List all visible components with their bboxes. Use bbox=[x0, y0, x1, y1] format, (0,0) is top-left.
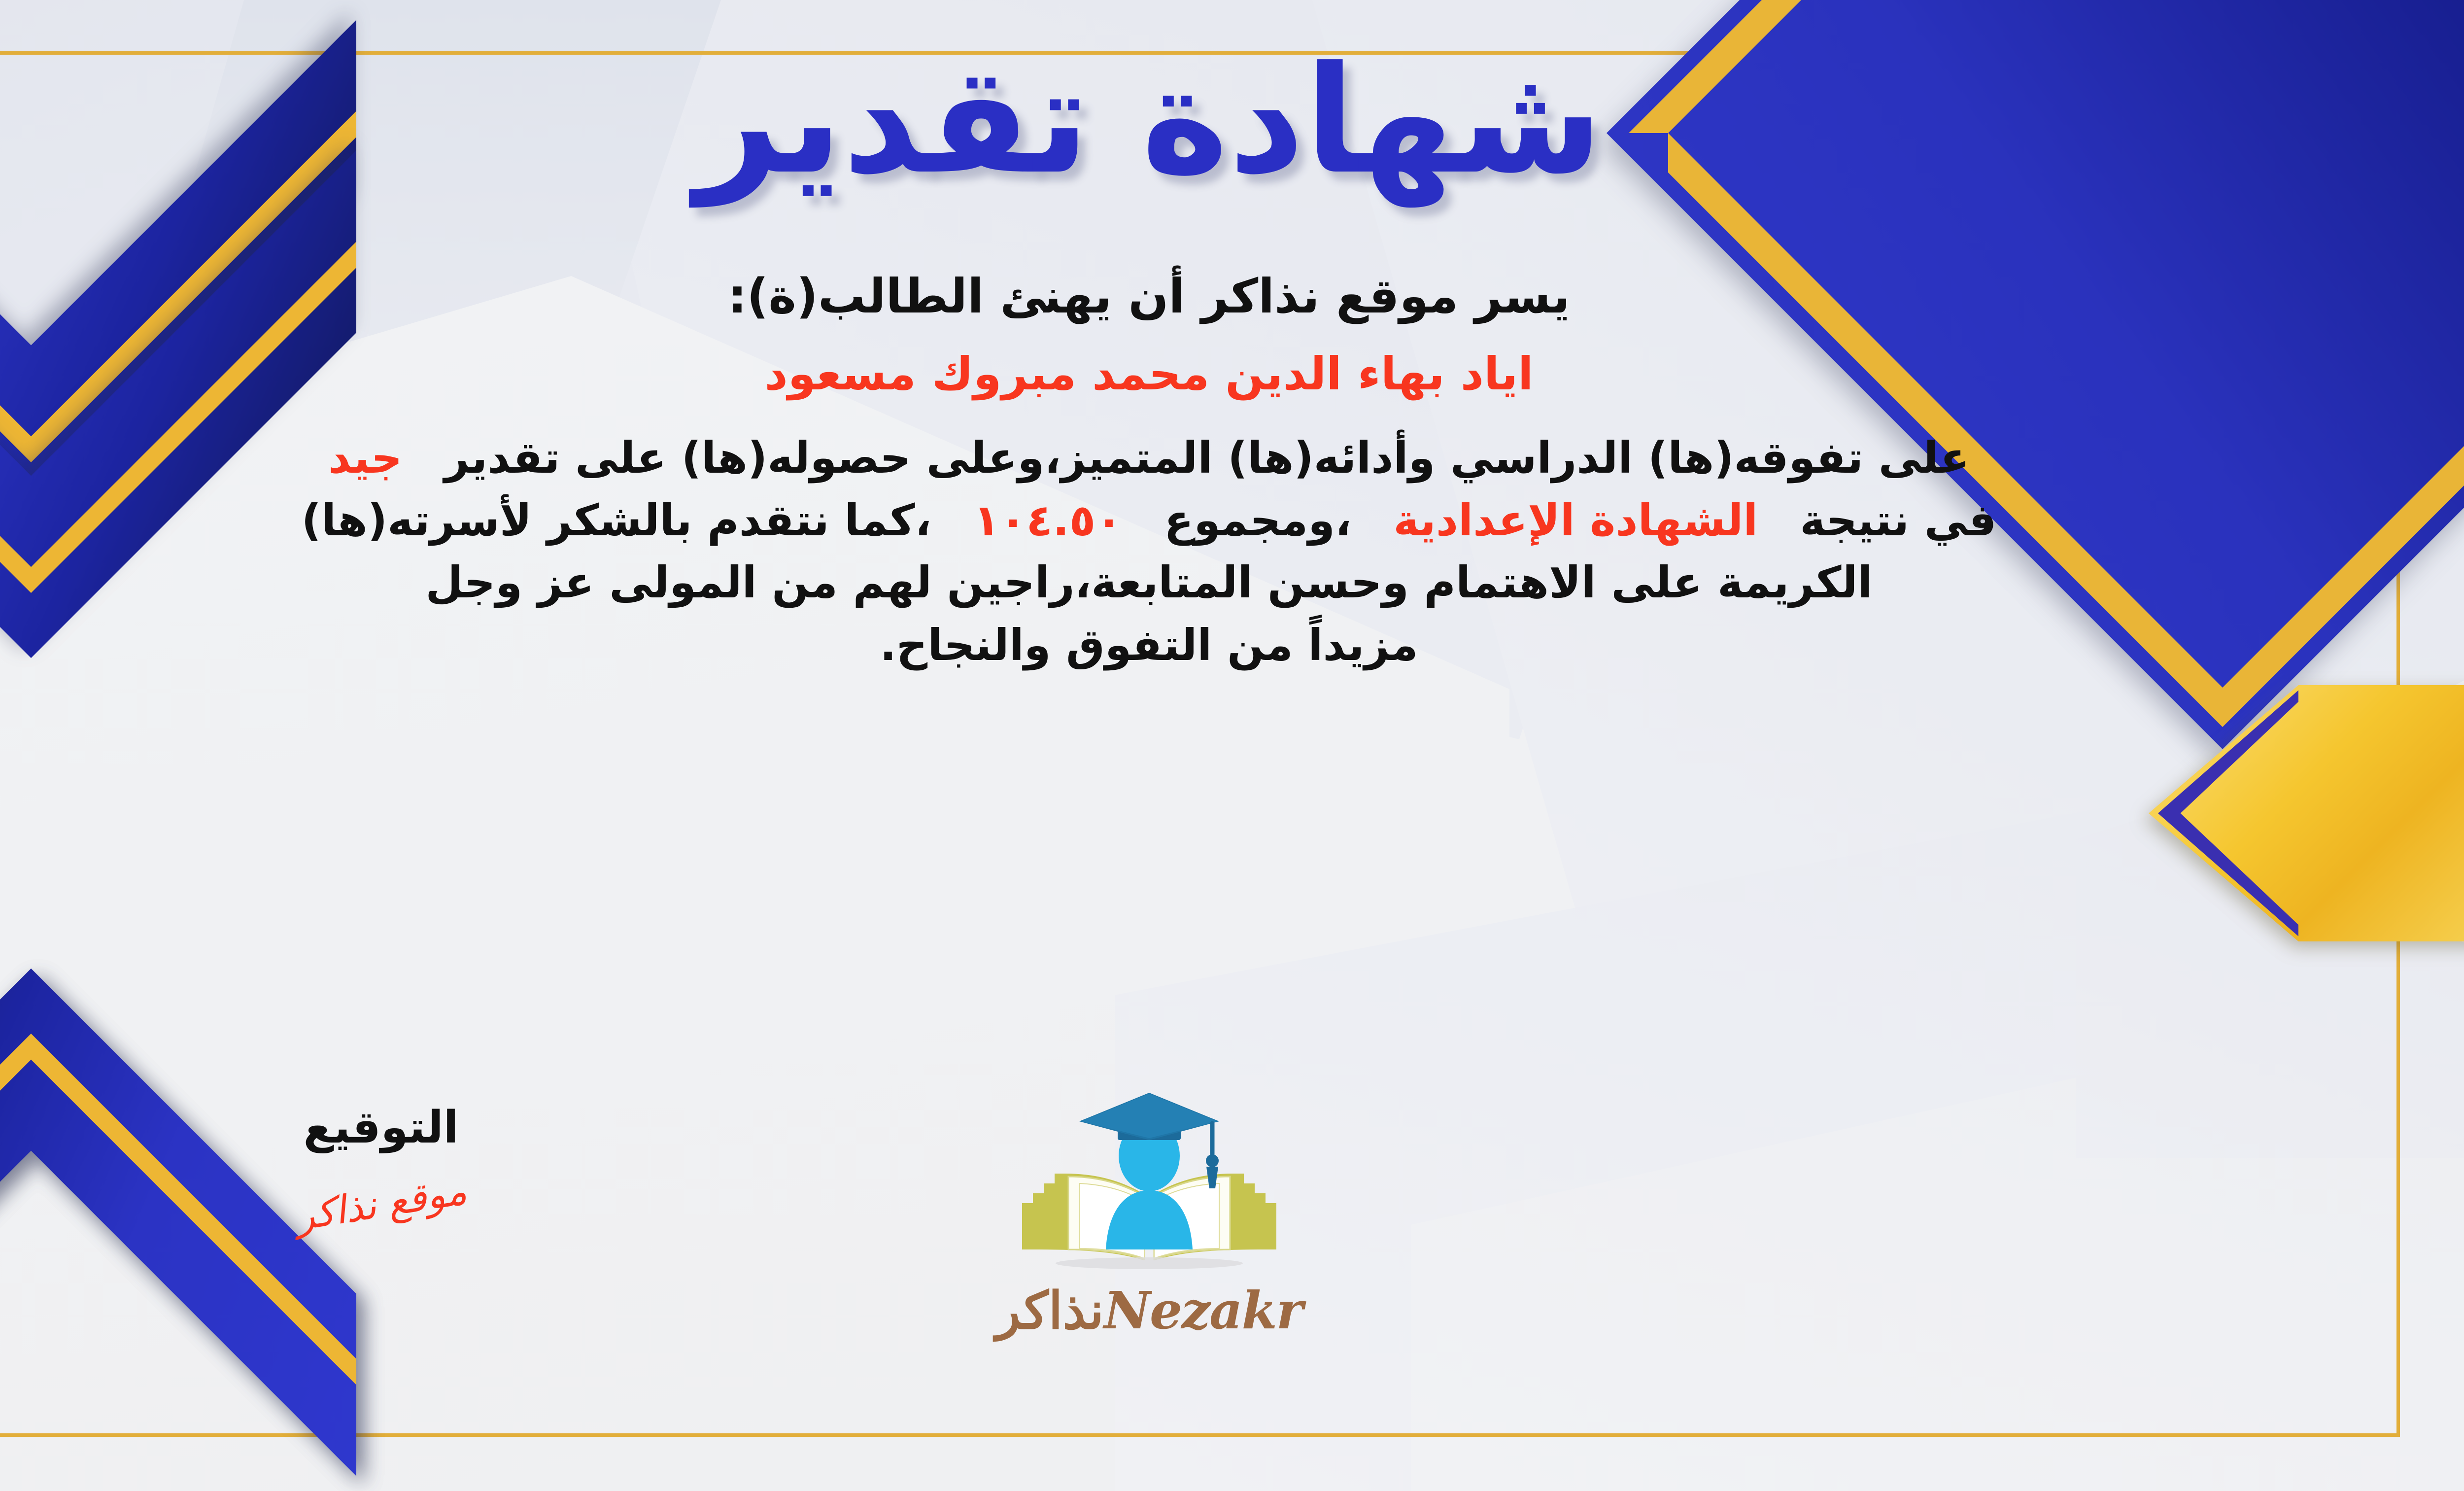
logo-arabic-text: نذاكر bbox=[996, 1280, 1104, 1341]
body-line-4: مزيداً من التفوق والنجاح. bbox=[45, 614, 2253, 677]
logo-latin-text: Nezakr bbox=[1104, 1280, 1302, 1341]
body-line-2-prefix: في نتيجة bbox=[1800, 495, 1996, 546]
certificate-body: على تفوقه(ها) الدراسي وأدائه(ها) المتميز… bbox=[45, 427, 2253, 677]
grade-value: جيد bbox=[328, 432, 402, 483]
congratulation-line: يسر موقع نذاكر أن يهنئ الطالب(ة): bbox=[728, 269, 1570, 324]
body-line-1-text: على تفوقه(ها) الدراسي وأدائه(ها) المتميز… bbox=[444, 432, 1969, 483]
logo-wordmark: Nezakrنذاكر bbox=[967, 1280, 1332, 1341]
certificate-name-value: الشهادة الإعدادية bbox=[1393, 495, 1758, 546]
graduation-book-icon bbox=[996, 1087, 1302, 1284]
total-score-value: ١٠٤.٥٠ bbox=[973, 495, 1122, 546]
body-line-2-suffix: ،كما نتقدم بالشكر لأسرته(ها) bbox=[302, 495, 932, 546]
site-logo: Nezakrنذاكر bbox=[967, 1087, 1332, 1341]
body-line-1: على تفوقه(ها) الدراسي وأدائه(ها) المتميز… bbox=[45, 427, 2253, 489]
body-line-3: الكريمة على الاهتمام وحسن المتابعة،راجين… bbox=[45, 552, 2253, 614]
certificate-title: شهادة تقدير bbox=[695, 47, 1603, 195]
certificate-page: شهادة تقدير يسر موقع نذاكر أن يهنئ الطال… bbox=[0, 0, 2464, 1491]
signature-block: التوقيع موقع نذاكر bbox=[199, 1102, 563, 1226]
body-line-2: في نتيجةالشهادة الإعدادية،ومجموع١٠٤.٥٠،ك… bbox=[45, 489, 2253, 552]
student-name: اياد بهاء الدين محمد مبروك مسعود bbox=[764, 347, 1533, 400]
certificate-footer: التوقيع موقع نذاكر bbox=[0, 1102, 2464, 1417]
signature-mark: موقع نذاكر bbox=[292, 1169, 470, 1240]
signature-label: التوقيع bbox=[199, 1102, 563, 1153]
body-line-2-mid: ،ومجموع bbox=[1164, 495, 1351, 546]
